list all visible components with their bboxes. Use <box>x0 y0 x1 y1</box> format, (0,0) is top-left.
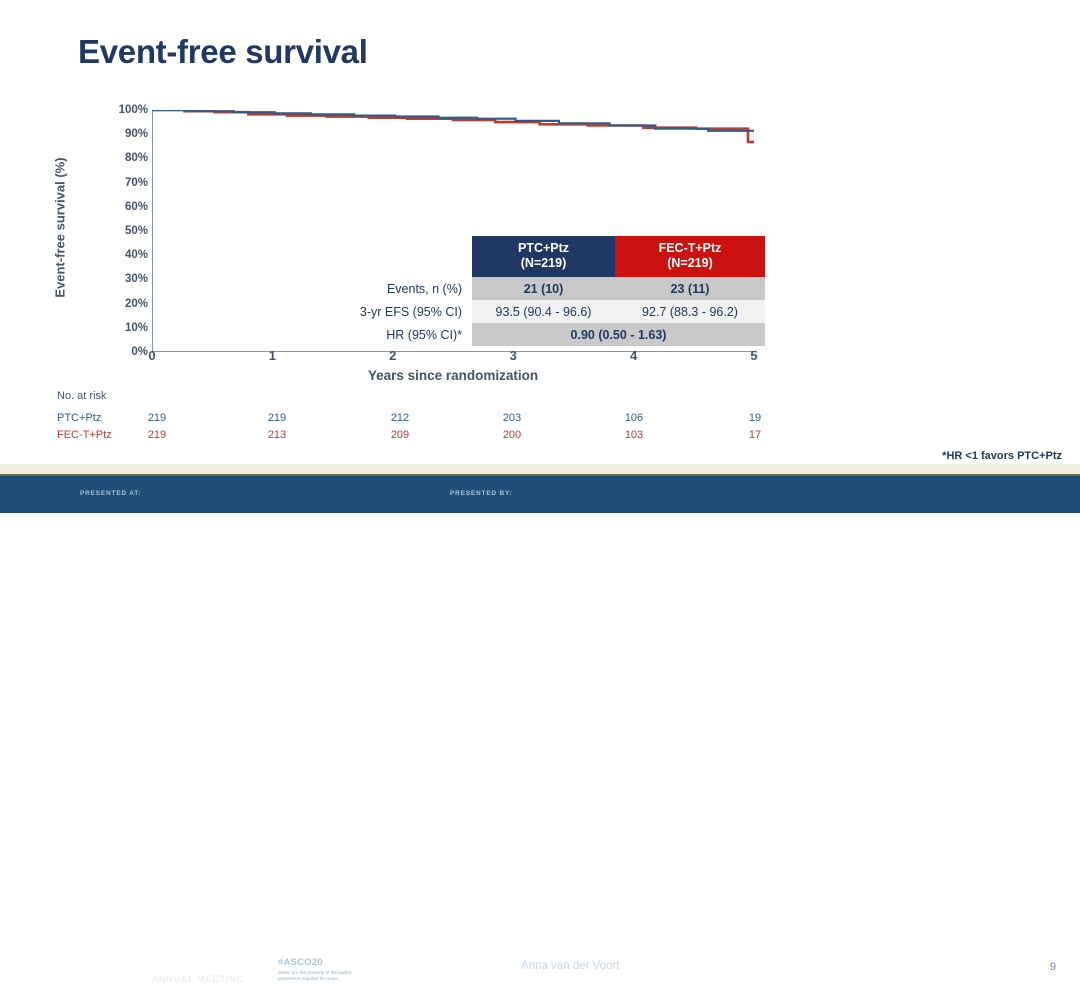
y-tick-90: 90% <box>106 128 148 140</box>
row-label-efs: 3-yr EFS (95% CI) <box>322 300 472 323</box>
risk-value: 219 <box>137 429 177 441</box>
header-fec-n: (N=219) <box>615 256 765 271</box>
y-tick-60: 60% <box>106 201 148 213</box>
y-tick-50: 50% <box>106 225 148 237</box>
page-number: 9 <box>1050 961 1056 973</box>
risk-value: 209 <box>380 429 420 441</box>
presented-at-label: PRESENTED AT: <box>80 490 141 497</box>
y-tick-100: 100% <box>106 104 148 116</box>
risk-caption: No. at risk <box>57 390 107 402</box>
risk-value: 219 <box>137 412 177 424</box>
risk-value: 200 <box>492 429 532 441</box>
y-axis-ticks: 0%10%20%30%40%50%60%70%80%90%100% <box>100 110 148 352</box>
hashtag-text: #ASCO20 <box>278 957 352 968</box>
hr-footnote: *HR <1 favors PTC+Ptz <box>942 450 1062 462</box>
y-tick-20: 20% <box>106 298 148 310</box>
header-spacer <box>322 236 472 277</box>
asco-logo: 2020ASCO ANNUAL MEETING <box>152 956 245 984</box>
events-ptc-value: 21 (10) <box>472 277 615 300</box>
presented-by-label: PRESENTED BY: <box>450 490 513 497</box>
y-tick-30: 30% <box>106 273 148 285</box>
asco-logo-year: 2020 <box>152 957 184 974</box>
y-tick-80: 80% <box>106 152 148 164</box>
page-title: Event-free survival <box>78 33 368 71</box>
header-fec-t-ptz: FEC-T+Ptz (N=219) <box>615 236 765 277</box>
slide-footer: PRESENTED AT: 2020ASCO ANNUAL MEETING #A… <box>0 476 1080 513</box>
gold-accent-strip <box>0 464 1080 474</box>
table-row-efs: 3-yr EFS (95% CI) 93.5 (90.4 - 96.6) 92.… <box>322 300 765 323</box>
asco-hashtag-block: #ASCO20 Slides are the property of the a… <box>278 957 352 982</box>
y-axis-title: Event-free survival (%) <box>53 148 68 308</box>
x-axis-title: Years since randomization <box>152 368 754 383</box>
x-tick-1: 1 <box>252 348 292 363</box>
header-ptc-name: PTC+Ptz <box>472 241 615 256</box>
events-fec-value: 23 (11) <box>615 277 765 300</box>
table-row-events: Events, n (%) 21 (10) 23 (11) <box>322 277 765 300</box>
x-tick-2: 2 <box>373 348 413 363</box>
statistics-table: PTC+Ptz (N=219) FEC-T+Ptz (N=219) Events… <box>322 236 765 346</box>
risk-value: 106 <box>614 412 654 424</box>
efs-fec-value: 92.7 (88.3 - 96.2) <box>615 300 765 323</box>
risk-row-label-ptc-ptz: PTC+Ptz <box>57 412 101 424</box>
risk-value: 19 <box>735 412 775 424</box>
y-tick-10: 10% <box>106 322 148 334</box>
x-tick-4: 4 <box>614 348 654 363</box>
asco-logo-top: 2020ASCO <box>152 956 245 974</box>
x-tick-5: 5 <box>734 348 774 363</box>
risk-value: 212 <box>380 412 420 424</box>
header-ptc-ptz: PTC+Ptz (N=219) <box>472 236 615 277</box>
table-row-hr: HR (95% CI)* 0.90 (0.50 - 1.63) <box>322 323 765 346</box>
row-label-hr: HR (95% CI)* <box>322 323 472 346</box>
header-fec-name: FEC-T+Ptz <box>615 241 765 256</box>
row-label-events: Events, n (%) <box>322 277 472 300</box>
asco-logo-name: ASCO <box>184 954 233 974</box>
header-ptc-n: (N=219) <box>472 256 615 271</box>
hr-value: 0.90 (0.50 - 1.63) <box>472 323 765 346</box>
risk-value: 17 <box>735 429 775 441</box>
efs-ptc-value: 93.5 (90.4 - 96.6) <box>472 300 615 323</box>
curve-fec-t-ptz <box>152 110 754 142</box>
risk-value: 203 <box>492 412 532 424</box>
disclaimer-line-2: permission required for reuse. <box>278 976 352 982</box>
x-tick-0: 0 <box>132 348 172 363</box>
risk-value: 219 <box>257 412 297 424</box>
asco-logo-sub: ANNUAL MEETING <box>152 975 245 985</box>
risk-value: 213 <box>257 429 297 441</box>
risk-row-label-fec-t-ptz: FEC-T+Ptz <box>57 429 112 441</box>
y-tick-40: 40% <box>106 249 148 261</box>
x-tick-3: 3 <box>493 348 533 363</box>
y-tick-70: 70% <box>106 177 148 189</box>
presenter-name: Anna van der Voort <box>521 960 619 972</box>
table-header-row: PTC+Ptz (N=219) FEC-T+Ptz (N=219) <box>322 236 765 277</box>
risk-value: 103 <box>614 429 654 441</box>
